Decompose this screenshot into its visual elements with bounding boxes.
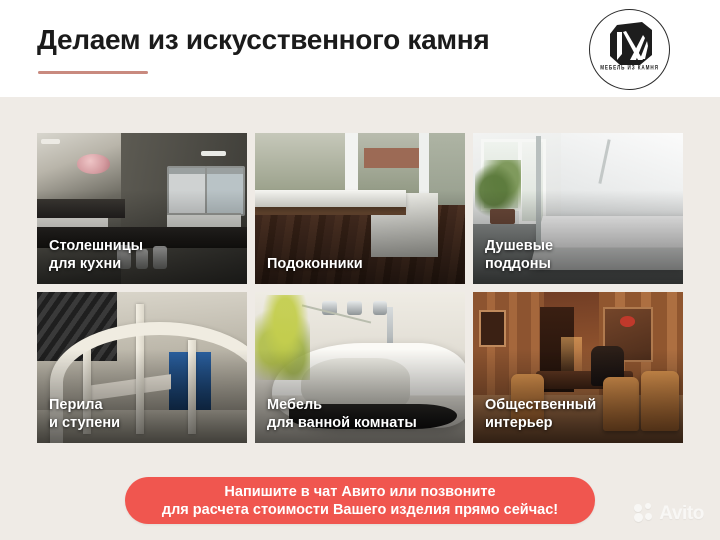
header-bar: Делаем из искусственного камня МЕБЕЛЬ ИЗ… (0, 0, 720, 97)
logo-emblem-icon (590, 10, 666, 86)
page-title: Делаем из искусственного камня (37, 22, 489, 58)
cta-button[interactable]: Напишите в чат Авито или позвоните для р… (125, 477, 595, 524)
tile-bathroom-furniture[interactable]: Мебель для ванной комнаты (255, 292, 465, 443)
tile-caption: Перила и ступени (49, 396, 239, 432)
tile-caption: Столешницы для кухни (49, 237, 239, 273)
tile-public-interior[interactable]: Общественный интерьер (473, 292, 683, 443)
tile-caption: Подоконники (267, 255, 457, 273)
cta-button-label: Напишите в чат Авито или позвоните для р… (162, 483, 558, 519)
tile-countertops[interactable]: Столешницы для кухни (37, 133, 247, 284)
title-underline-accent (38, 71, 148, 74)
tile-railings-steps[interactable]: Перила и ступени (37, 292, 247, 443)
avito-watermark: Avito (634, 502, 704, 524)
services-grid: Столешницы для кухни Подоконники Душевые… (37, 133, 683, 443)
avito-wordmark: Avito (659, 504, 704, 523)
poster-advertisement: Делаем из искусственного камня МЕБЕЛЬ ИЗ… (0, 0, 720, 540)
tile-caption: Душевые поддоны (485, 237, 675, 273)
tile-window-sills[interactable]: Подоконники (255, 133, 465, 284)
logo-caption: МЕБЕЛЬ ИЗ КАМНЯ (590, 64, 669, 71)
tile-shower-trays[interactable]: Душевые поддоны (473, 133, 683, 284)
avito-logo-icon (634, 503, 654, 523)
tile-caption: Общественный интерьер (485, 396, 675, 432)
tile-caption: Мебель для ванной комнаты (267, 396, 457, 432)
company-logo: МЕБЕЛЬ ИЗ КАМНЯ (589, 9, 670, 90)
